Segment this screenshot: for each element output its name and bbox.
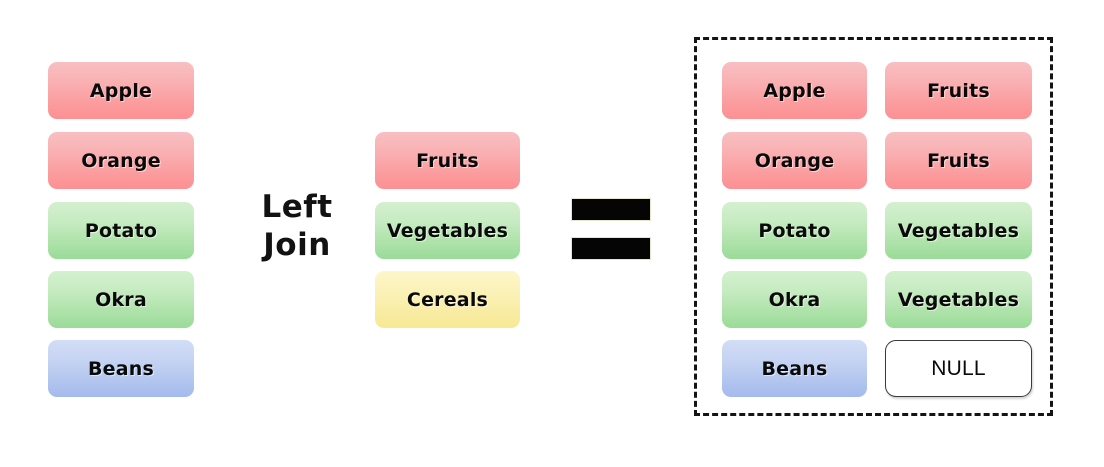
equals-bar-top (571, 198, 651, 221)
result-category-cell: Fruits (885, 62, 1032, 119)
categories-table-cell: Fruits (375, 132, 520, 189)
result-item-cell: Okra (722, 271, 867, 328)
left-join-diagram: Apple Orange Potato Okra Beans Left Join… (0, 0, 1104, 467)
result-item-cell: Potato (722, 202, 867, 259)
left-table-cell: Okra (48, 271, 194, 328)
left-table-cell: Potato (48, 202, 194, 259)
left-table-cell: Apple (48, 62, 194, 119)
equals-sign-icon (571, 198, 651, 260)
left-table-cell: Orange (48, 132, 194, 189)
result-category-cell: Vegetables (885, 271, 1032, 328)
result-item-cell: Orange (722, 132, 867, 189)
join-operation-label: Left Join (238, 188, 356, 264)
left-table-cell: Beans (48, 340, 194, 397)
result-category-cell: Vegetables (885, 202, 1032, 259)
result-item-cell: Apple (722, 62, 867, 119)
result-category-cell: Fruits (885, 132, 1032, 189)
result-item-cell: Beans (722, 340, 867, 397)
equals-bar-bottom (571, 237, 651, 260)
categories-table-cell: Cereals (375, 271, 520, 328)
result-category-cell-null: NULL (885, 340, 1032, 397)
join-label-line-1: Left (238, 188, 356, 226)
categories-table-cell: Vegetables (375, 202, 520, 259)
join-label-line-2: Join (238, 226, 356, 264)
